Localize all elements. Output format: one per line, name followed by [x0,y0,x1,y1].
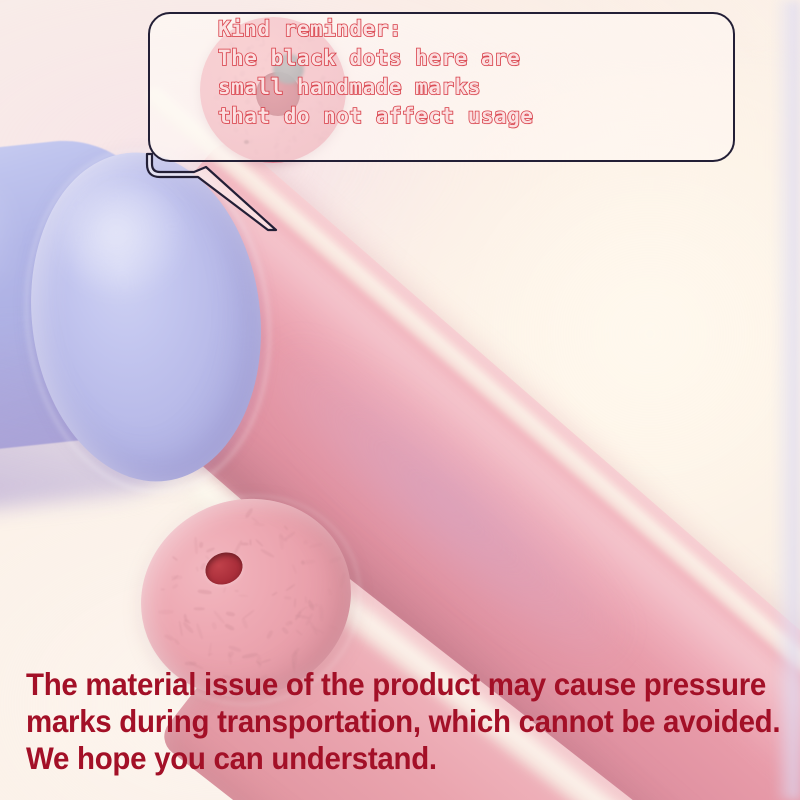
callout-line-1: Kind reminder: [218,15,590,44]
caption-line-3: We hope you can understand. [26,740,733,777]
caption-line-1: The material issue of the product may ca… [26,666,733,703]
product-notice-image: Kind reminder: The black dots here are s… [0,0,800,800]
callout-text-block: Kind reminder: The black dots here are s… [218,15,590,131]
caption-line-2: marks during transportation, which canno… [26,703,733,740]
callout-line-2: The black dots here are [218,44,590,73]
disclaimer-caption: The material issue of the product may ca… [26,666,782,777]
callout-line-3: small handmade marks [218,73,590,102]
callout-line-4: that do not affect usage [218,102,590,131]
